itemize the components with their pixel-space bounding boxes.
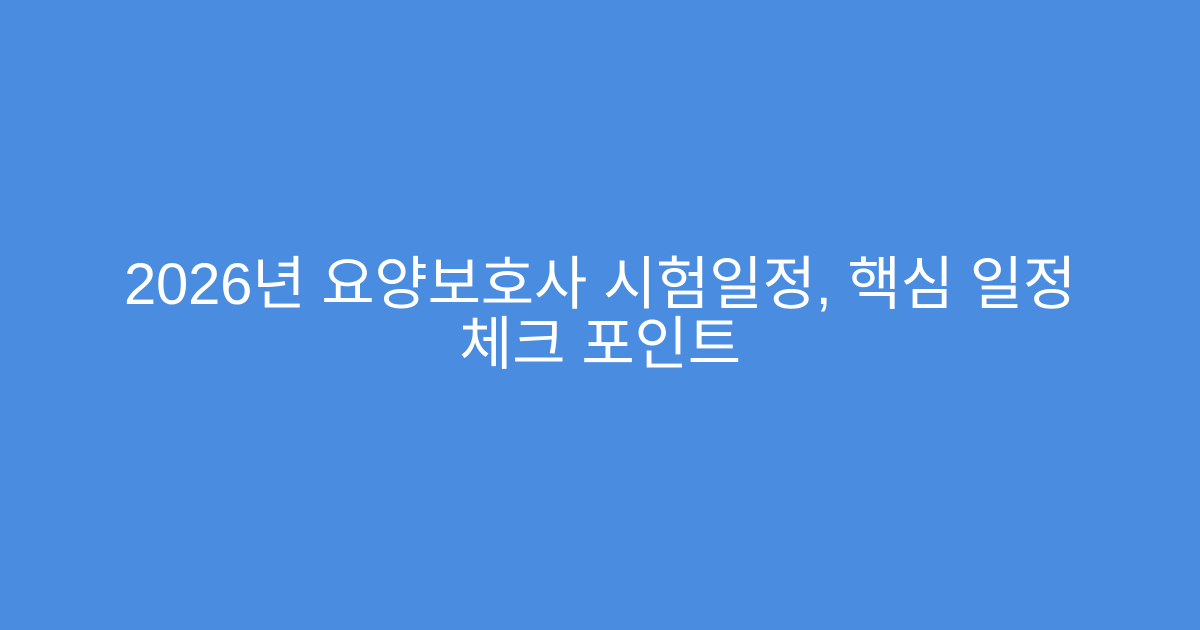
- og-card: 2026년 요양보호사 시험일정, 핵심 일정 체크 포인트: [0, 0, 1200, 630]
- page-title: 2026년 요양보호사 시험일정, 핵심 일정 체크 포인트: [110, 255, 1090, 374]
- card-content-container: 2026년 요양보호사 시험일정, 핵심 일정 체크 포인트: [0, 255, 1200, 374]
